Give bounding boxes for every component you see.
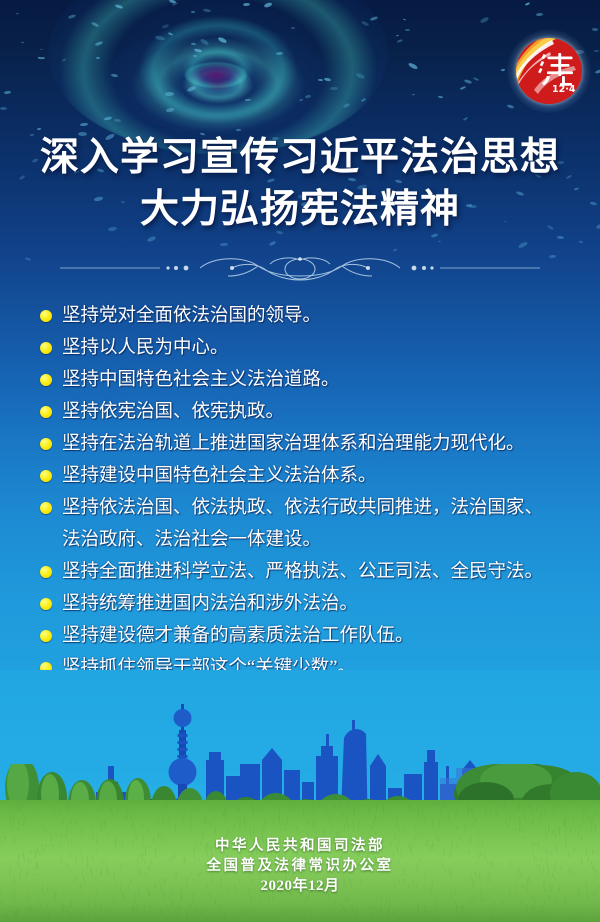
light-particle xyxy=(276,52,283,55)
light-particle xyxy=(111,73,118,77)
light-particle xyxy=(592,28,598,31)
light-particle xyxy=(155,35,166,41)
principle-item: 坚持依法治国、依法执政、依法行政共同推进，法治国家、法治政府、法治社会一体建设。 xyxy=(0,492,600,556)
light-particle xyxy=(172,2,178,6)
light-particle xyxy=(187,85,197,92)
bullet-dot-icon xyxy=(40,566,52,578)
footer-date: 2020年12月 xyxy=(0,876,600,896)
light-particle xyxy=(324,77,332,81)
bullet-dot-icon xyxy=(40,406,52,418)
light-particle xyxy=(318,79,323,81)
light-particle xyxy=(463,117,468,121)
light-particle xyxy=(114,119,122,123)
light-particle xyxy=(460,86,466,90)
principle-text: 坚持在法治轨道上推进国家治理体系和治理能力现代化。 xyxy=(62,428,600,460)
light-particle xyxy=(80,123,88,127)
principles-list: 坚持党对全面依法治国的领导。坚持以人民为中心。坚持中国特色社会主义法治道路。坚持… xyxy=(0,300,600,684)
light-particle xyxy=(438,241,441,243)
light-particle xyxy=(536,13,543,16)
light-particle xyxy=(518,241,528,249)
title-line-2: 大力弘扬宪法精神 xyxy=(0,184,600,236)
light-particle xyxy=(264,2,273,8)
light-particle xyxy=(68,14,77,20)
light-particle xyxy=(4,91,11,95)
footer-credits: 中华人民共和国司法部 全国普及法律常识办公室 2020年12月 xyxy=(0,836,600,896)
light-particle xyxy=(245,99,251,102)
bullet-dot-icon xyxy=(40,502,52,514)
footer-org-1: 中华人民共和国司法部 xyxy=(0,836,600,856)
light-particle xyxy=(96,57,100,59)
light-particle xyxy=(370,16,379,22)
light-particle xyxy=(438,96,444,99)
light-particle xyxy=(579,240,584,243)
light-particle xyxy=(115,4,123,9)
bullet-dot-icon xyxy=(40,630,52,642)
light-particle xyxy=(191,43,196,46)
bullet-dot-icon xyxy=(40,310,52,322)
light-particle xyxy=(403,19,406,21)
light-particle xyxy=(62,58,66,61)
light-particle xyxy=(408,62,419,70)
light-particle xyxy=(203,8,212,13)
poster-root: 12·4 深入学习宣传习近平法治思想 大力弘扬宪法精神 xyxy=(0,0,600,922)
principle-text: 坚持建设德才兼备的高素质法治工作队伍。 xyxy=(62,620,600,652)
light-particle xyxy=(412,93,416,96)
light-particle xyxy=(168,32,174,36)
light-particle xyxy=(305,94,311,98)
light-particle xyxy=(194,48,202,53)
decorative-divider xyxy=(0,250,600,286)
bullet-dot-icon xyxy=(40,438,52,450)
light-particle xyxy=(41,57,45,59)
emblem-container: 12·4 xyxy=(516,38,582,104)
light-particle xyxy=(200,38,210,46)
principle-item: 坚持建设德才兼备的高素质法治工作队伍。 xyxy=(0,620,600,652)
principle-text-continued: 法治政府、法治社会一体建设。 xyxy=(62,524,600,556)
light-particle xyxy=(525,2,530,6)
light-particle xyxy=(21,42,25,44)
light-particle xyxy=(95,41,104,47)
principle-text: 坚持全面推进科学立法、严格执法、公正司法、全民守法。 xyxy=(62,556,600,588)
light-particle xyxy=(361,98,366,102)
light-particle xyxy=(356,72,366,79)
footer-org-2: 全国普及法律常识办公室 xyxy=(0,856,600,876)
principle-text: 坚持党对全面依法治国的领导。 xyxy=(62,300,600,332)
light-particle xyxy=(397,39,403,43)
bullet-dot-icon xyxy=(40,374,52,386)
light-particle xyxy=(361,20,370,27)
principle-item: 坚持统筹推进国内法治和涉外法治。 xyxy=(0,588,600,620)
light-particle xyxy=(243,3,250,6)
light-particle xyxy=(166,107,175,112)
light-particle xyxy=(330,87,338,90)
light-particle xyxy=(218,36,227,43)
light-particle xyxy=(501,69,505,71)
light-particle xyxy=(236,129,241,131)
light-particle xyxy=(191,11,195,13)
principle-text: 坚持依宪治国、依宪执政。 xyxy=(62,396,600,428)
national-constitution-day-emblem-icon: 12·4 xyxy=(516,38,582,104)
light-particle xyxy=(291,27,295,30)
light-particle xyxy=(104,116,112,121)
principle-text: 坚持以人民为中心。 xyxy=(62,332,600,364)
bullet-dot-icon xyxy=(40,342,52,354)
landscape-footer-scene: 中华人民共和国司法部 全国普及法律常识办公室 2020年12月 xyxy=(0,670,600,922)
light-particle xyxy=(507,104,514,109)
light-particle xyxy=(220,243,228,247)
light-particle xyxy=(147,235,157,242)
principle-text: 坚持建设中国特色社会主义法治体系。 xyxy=(62,460,600,492)
light-particle xyxy=(0,107,7,110)
principle-item: 坚持建设中国特色社会主义法治体系。 xyxy=(0,460,600,492)
principle-text: 坚持依法治国、依法执政、依法行政共同推进，法治国家、 xyxy=(62,492,600,524)
principle-item: 坚持依宪治国、依宪执政。 xyxy=(0,396,600,428)
principle-text: 坚持统筹推进国内法治和涉外法治。 xyxy=(62,588,600,620)
light-particle xyxy=(464,79,472,85)
light-particle xyxy=(162,24,169,29)
bullet-dot-icon xyxy=(40,470,52,482)
principle-text: 坚持中国特色社会主义法治道路。 xyxy=(62,364,600,396)
principle-item: 坚持在法治轨道上推进国家治理体系和治理能力现代化。 xyxy=(0,428,600,460)
principle-item: 坚持以人民为中心。 xyxy=(0,332,600,364)
svg-text:12·4: 12·4 xyxy=(552,84,576,95)
light-particle xyxy=(396,35,400,37)
light-particle xyxy=(594,50,599,52)
bullet-dot-icon xyxy=(40,598,52,610)
light-particle xyxy=(193,55,197,57)
light-particle xyxy=(405,29,410,31)
light-particle xyxy=(165,92,174,96)
light-particle xyxy=(299,98,303,101)
light-particle xyxy=(557,236,564,239)
light-particle xyxy=(16,13,19,15)
light-particle xyxy=(480,16,490,24)
light-particle xyxy=(91,21,100,28)
title-line-1: 深入学习宣传习近平法治思想 xyxy=(0,132,600,184)
principle-item: 坚持党对全面依法治国的领导。 xyxy=(0,300,600,332)
light-particle xyxy=(37,128,41,130)
poster-title: 深入学习宣传习近平法治思想 大力弘扬宪法精神 xyxy=(0,132,600,236)
light-particle xyxy=(595,69,600,74)
light-particle xyxy=(473,77,479,81)
light-particle xyxy=(40,49,43,51)
light-particle xyxy=(343,103,351,109)
light-particle xyxy=(269,241,276,247)
principle-item: 坚持中国特色社会主义法治道路。 xyxy=(0,364,600,396)
principle-item: 坚持全面推进科学立法、严格执法、公正司法、全民守法。 xyxy=(0,556,600,588)
